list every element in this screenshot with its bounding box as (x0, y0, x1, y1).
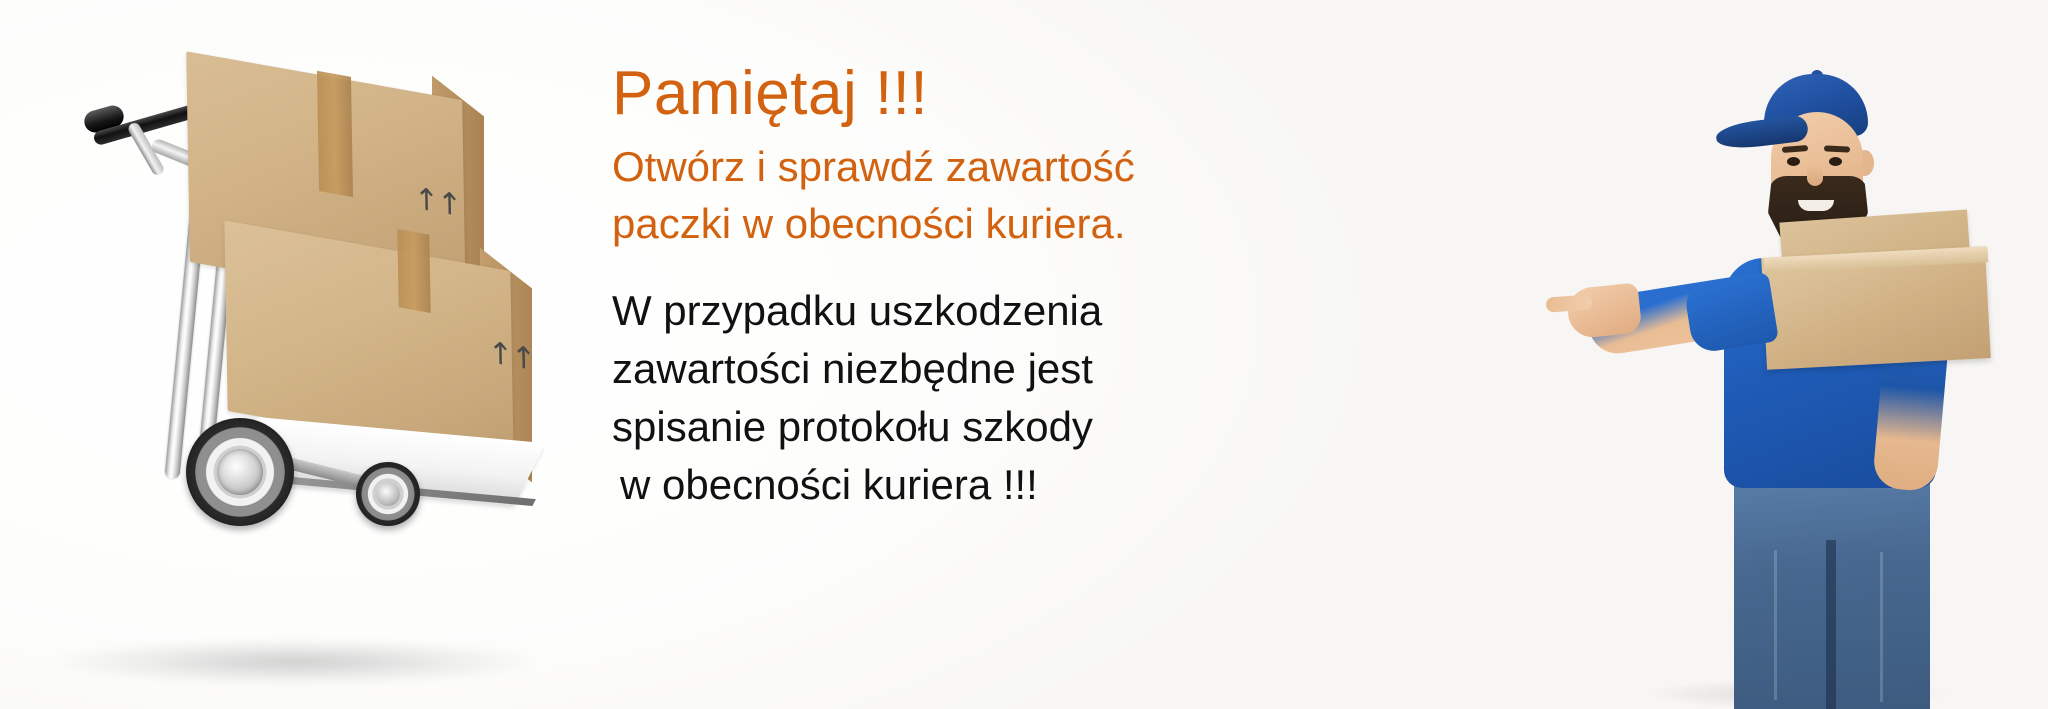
body-line: spisanie protokołu szkody (612, 398, 1172, 456)
hand-truck-illustration: ↑↑ ↑↑ (0, 0, 600, 709)
this-way-up-icon: ↑↑ (414, 184, 461, 222)
smiling-mouth (1798, 200, 1834, 211)
jeans-seam-left (1774, 550, 1777, 700)
body-copy: W przypadku uszkodzenia zawartości niezb… (612, 282, 1172, 514)
subhead-line: paczki w obecności kuriera. (612, 196, 1172, 252)
headline: Pamiętaj !!! (612, 62, 1172, 125)
dolly-front-wheel (186, 418, 294, 526)
eye-right (1829, 157, 1842, 166)
subhead-line: Otwórz i sprawdź zawartość (612, 139, 1172, 195)
body-line: W przypadku uszkodzenia (612, 282, 1172, 340)
pointing-hand (1566, 282, 1643, 339)
polo-sleeve (1683, 272, 1779, 355)
jeans-seam-right (1880, 552, 1883, 702)
dolly-rear-wheel (356, 462, 420, 526)
eye-left (1787, 157, 1800, 166)
courier-illustration (1528, 0, 2048, 709)
pointing-finger-icon (1546, 294, 1593, 312)
body-line: w obecności kuriera !!! (612, 456, 1172, 514)
body-line: zawartości niezbędne jest (612, 340, 1172, 398)
subhead: Otwórz i sprawdź zawartość paczki w obec… (612, 139, 1172, 252)
jeans-inseam (1826, 540, 1836, 709)
packing-tape-upper (317, 71, 353, 197)
floor-shadow (60, 639, 530, 685)
message-text-block: Pamiętaj !!! Otwórz i sprawdź zawartość … (612, 62, 1172, 514)
eyebrow-right (1824, 145, 1850, 152)
nose (1807, 166, 1823, 186)
this-way-up-icon: ↑↑ (488, 338, 535, 376)
packing-tape-lower (397, 229, 430, 313)
delivery-notice-banner: ↑↑ ↑↑ Pamiętaj !!! Otwórz i sprawdź zawa… (0, 0, 2048, 709)
